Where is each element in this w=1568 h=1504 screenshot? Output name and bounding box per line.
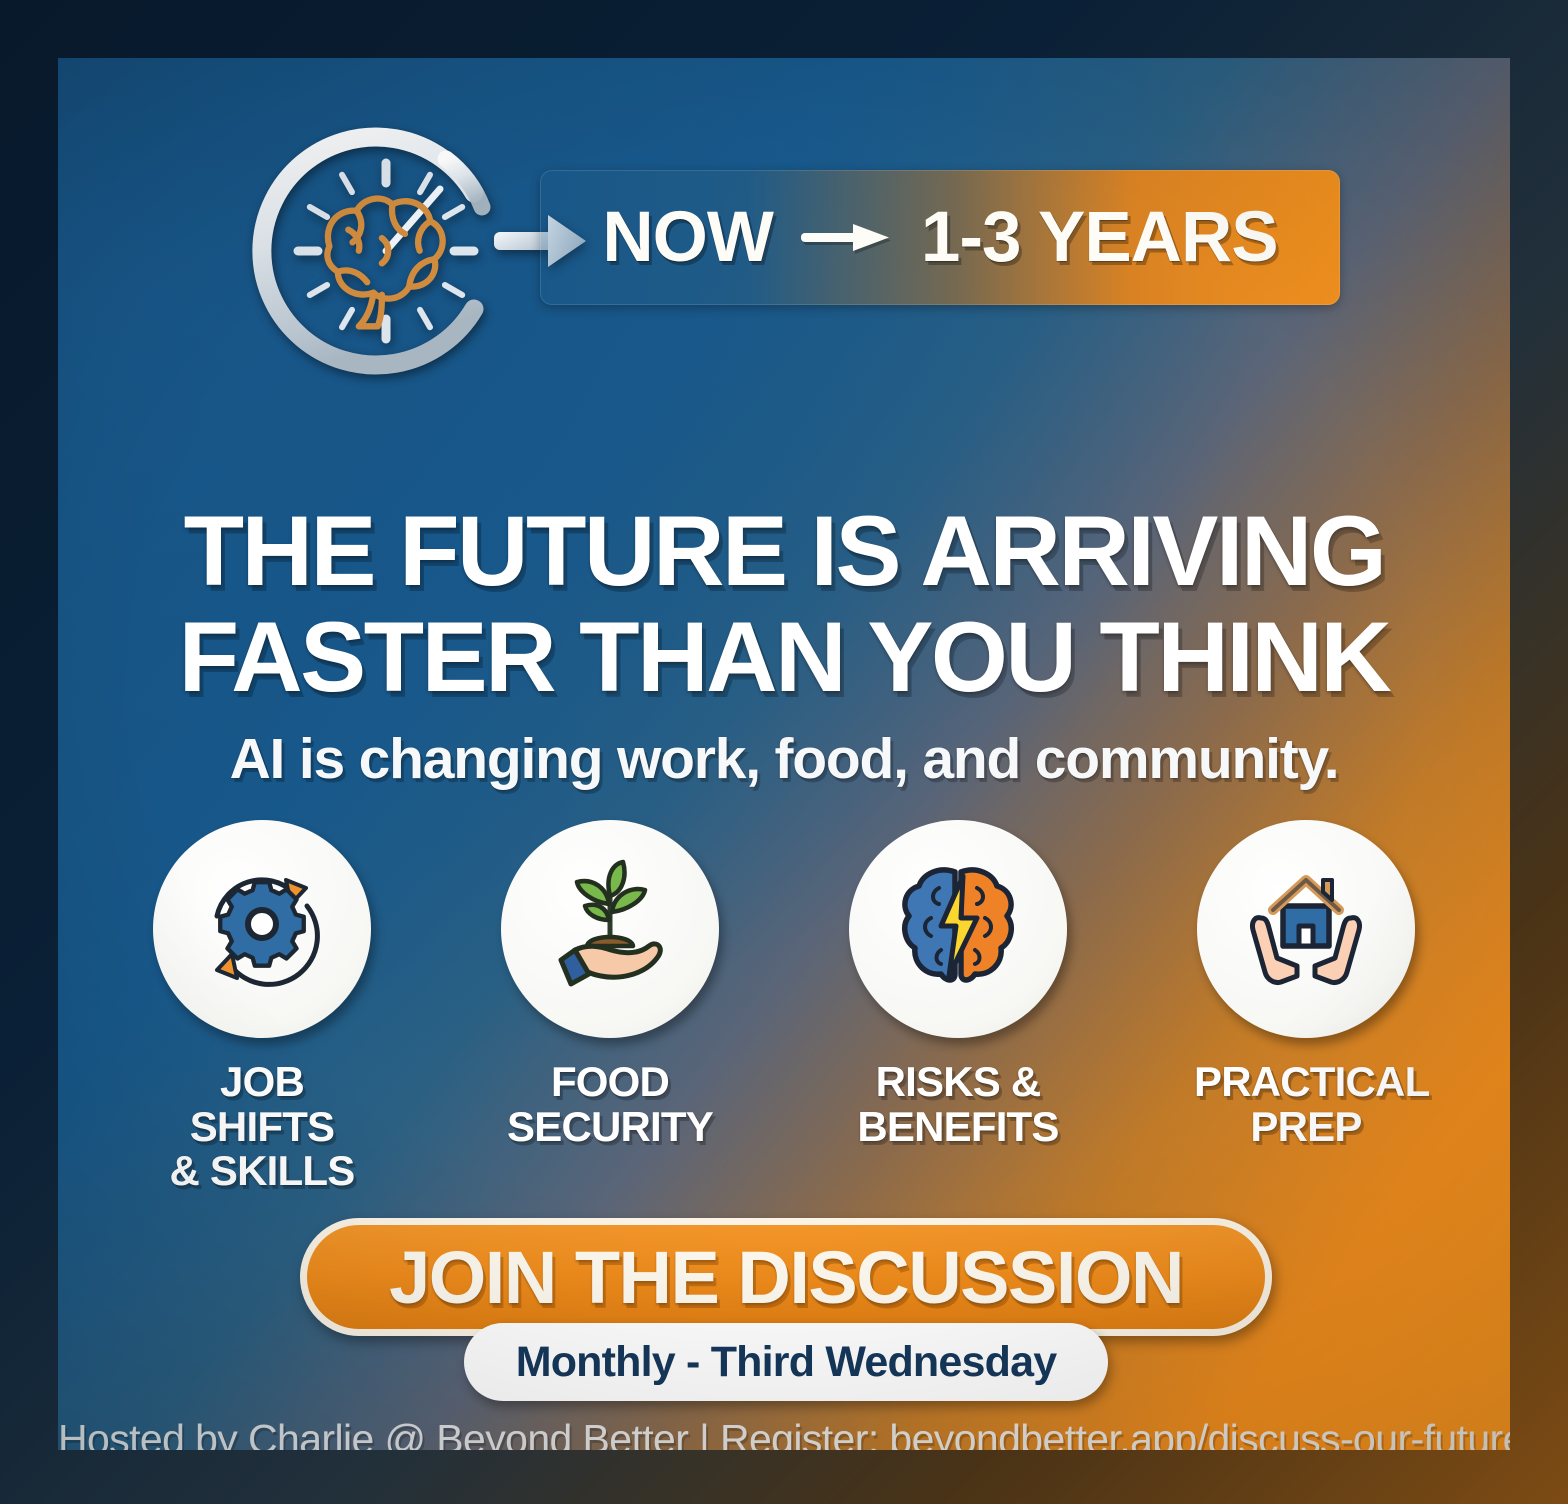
- page-title: THE FUTURE IS ARRIVING FASTER THAN YOU T…: [58, 498, 1510, 710]
- pillar-icon-circle: [153, 820, 371, 1038]
- hand-seedling-icon: [535, 854, 685, 1004]
- arrow-right-icon: [799, 218, 895, 258]
- cta-button-label: JOIN THE DISCUSSION: [389, 1235, 1183, 1320]
- timeline-banner: NOW 1-3 YEARS: [540, 170, 1340, 305]
- headline-line-2: FASTER THAN YOU THINK: [58, 604, 1510, 710]
- headline-line-1: THE FUTURE IS ARRIVING: [58, 498, 1510, 604]
- poster-canvas: NOW 1-3 YEARS THE FUTURE IS ARRIVING FAS…: [0, 0, 1568, 1504]
- schedule-badge: Monthly - Third Wednesday: [464, 1323, 1108, 1401]
- page-subtitle: AI is changing work, food, and community…: [58, 726, 1510, 792]
- split-brain-bolt-icon: [883, 854, 1033, 1004]
- timeline-from-label: NOW: [602, 202, 773, 273]
- footer-register-text: Hosted by Charlie @ Beyond Better | Regi…: [58, 1416, 1510, 1450]
- pillars-row: JOB SHIFTS & SKILLS: [58, 820, 1510, 1194]
- pillar-risks-benefits: RISKS & BENEFITS: [846, 820, 1070, 1194]
- pillar-practical-prep: PRACTICAL PREP: [1194, 820, 1418, 1194]
- pillar-label: FOOD SECURITY: [498, 1060, 722, 1149]
- pillar-food-security: FOOD SECURITY: [498, 820, 722, 1194]
- timeline-to-label: 1-3 YEARS: [921, 202, 1278, 273]
- poster-inner-panel: NOW 1-3 YEARS THE FUTURE IS ARRIVING FAS…: [58, 58, 1510, 1450]
- pillar-icon-circle: [501, 820, 719, 1038]
- pillar-icon-circle: [1197, 820, 1415, 1038]
- pillar-icon-circle: [849, 820, 1067, 1038]
- hands-house-icon: [1231, 854, 1381, 1004]
- pillar-label: JOB SHIFTS & SKILLS: [150, 1060, 374, 1194]
- schedule-badge-label: Monthly - Third Wednesday: [516, 1338, 1057, 1387]
- join-the-discussion-button[interactable]: JOIN THE DISCUSSION: [300, 1218, 1272, 1336]
- pillar-job-shifts: JOB SHIFTS & SKILLS: [150, 820, 374, 1194]
- pillar-label: PRACTICAL PREP: [1194, 1060, 1418, 1149]
- pillar-label: RISKS & BENEFITS: [846, 1060, 1070, 1149]
- gear-refresh-icon: [187, 854, 337, 1004]
